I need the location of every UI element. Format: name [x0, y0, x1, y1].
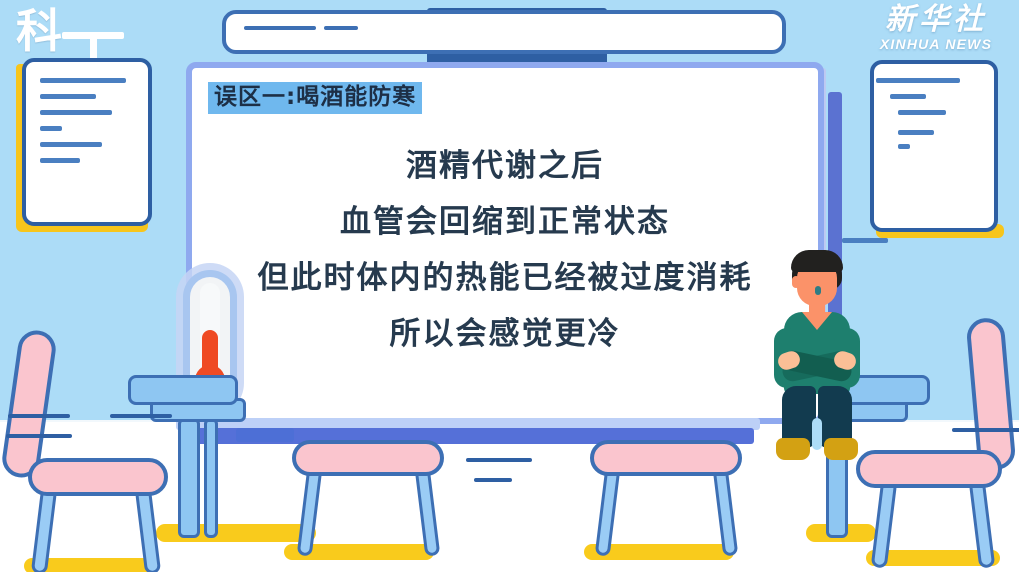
board-left-line-1 [40, 78, 126, 83]
chair-rail [952, 428, 1019, 432]
board-right-line-4 [898, 130, 934, 135]
whiteboard-content: 误区一:喝酒能防寒 酒精代谢之后 血管会回缩到正常状态 但此时体内的热能已经被过… [192, 68, 818, 418]
chair-seat [590, 440, 742, 476]
xinhua-watermark-en: XINHUA NEWS [861, 36, 1011, 52]
chair-mid-right [570, 440, 760, 572]
seated-person-illustration [766, 250, 866, 455]
whiteboard-title: 误区一:喝酒能防寒 [208, 82, 422, 114]
chair-mid-left [272, 440, 462, 572]
board-right-line-1 [876, 78, 960, 83]
chair-backrest [965, 317, 1016, 472]
projector-bar-line-1 [244, 26, 316, 30]
left-desk-leg-2 [204, 418, 218, 538]
board-right-line-5 [898, 144, 910, 149]
chair-seat [292, 440, 444, 476]
board-right-line-3 [898, 110, 946, 115]
person-leg-gap [812, 418, 822, 450]
whiteboard: 误区一:喝酒能防寒 酒精代谢之后 血管会回缩到正常状态 但此时体内的热能已经被过… [186, 62, 824, 424]
person-shoe-right [824, 438, 858, 460]
board-right-line-2 [890, 94, 926, 99]
chair-rail [6, 434, 72, 438]
person-shoe-left [776, 438, 810, 460]
chair-far-right [856, 318, 1019, 570]
board-left-line-6 [40, 158, 80, 163]
kepu-logo-glyph-1: 科 [16, 8, 60, 54]
whiteboard-line-2: 血管会回缩到正常状态 [208, 194, 802, 250]
person-hair-fringe [791, 250, 843, 272]
wall-accent-line [842, 238, 888, 243]
projector-bar-line-2 [324, 26, 358, 30]
board-left-line-2 [40, 94, 96, 99]
xinhua-watermark: 新华社 XINHUA NEWS [861, 4, 1011, 60]
floor-rail-left-b [110, 414, 172, 418]
xinhua-watermark-cn: 新华社 [861, 4, 1011, 36]
floor-rail-left-a [8, 414, 70, 418]
floor-rail-center-upper [466, 458, 532, 462]
board-left-line-3 [40, 110, 112, 115]
chair-far-left [0, 330, 200, 570]
projector-light-bar [222, 10, 786, 54]
chair-seat [856, 450, 1002, 488]
board-left-line-4 [40, 126, 62, 131]
screenshot-stage: 科 新华社 XINHUA NEWS 误区一:喝酒能防寒 [0, 0, 1019, 572]
board-left-line-5 [40, 142, 102, 147]
bulletin-board-right [870, 60, 998, 232]
whiteboard-line-1: 酒精代谢之后 [208, 138, 802, 194]
person-ear [792, 276, 800, 288]
whiteboard-line-4: 所以会感觉更冷 [208, 306, 802, 362]
whiteboard-body: 酒精代谢之后 血管会回缩到正常状态 但此时体内的热能已经被过度消耗 所以会感觉更… [208, 138, 802, 362]
chair-seat [28, 458, 168, 496]
floor-rail-center-lower [474, 478, 512, 482]
bulletin-board-left [22, 58, 152, 226]
whiteboard-line-3: 但此时体内的热能已经被过度消耗 [208, 250, 802, 306]
person-mouth [815, 286, 821, 295]
